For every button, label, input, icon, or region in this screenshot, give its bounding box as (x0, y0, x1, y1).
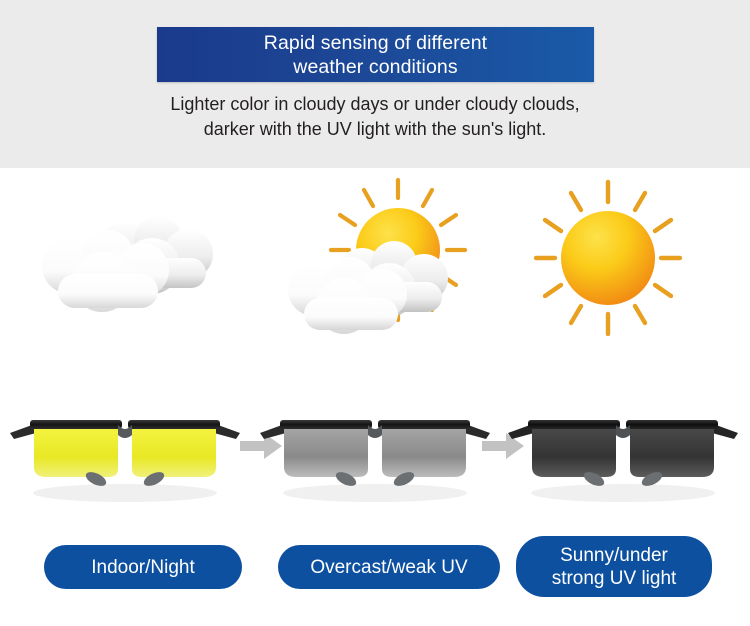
condition-label-text: Overcast/weak UV (310, 556, 467, 579)
subtitle-line-1: Lighter color in cloudy days or under cl… (0, 92, 750, 117)
sun-behind-cloud-icon (280, 168, 480, 373)
condition-label-line-1: Indoor/Night (91, 556, 195, 579)
dark-tint-glasses-icon (498, 373, 748, 523)
condition-label-line-1: Sunny/under (552, 544, 677, 567)
yellow-tint-glasses-icon (0, 373, 250, 523)
page-title: Rapid sensing of different weather condi… (264, 31, 487, 79)
condition-label-sunny-strong-uv: Sunny/under strong UV light (516, 536, 712, 597)
weather-stage-sun-behind-cloud (280, 168, 480, 373)
header-section: Rapid sensing of different weather condi… (0, 0, 750, 168)
page-title-line-1: Rapid sensing of different (264, 31, 487, 55)
glasses-row (0, 373, 750, 523)
condition-label-text: Sunny/under strong UV light (552, 544, 677, 590)
weather-stages-row (0, 168, 750, 373)
dark-tint-glasses (498, 373, 748, 523)
condition-label-overcast-weak-uv: Overcast/weak UV (278, 545, 500, 589)
condition-label-indoor-night: Indoor/Night (44, 545, 242, 589)
condition-label-line-2: strong UV light (552, 567, 677, 590)
clouds-icon (18, 168, 233, 373)
title-banner: Rapid sensing of different weather condi… (157, 27, 594, 82)
yellow-tint-glasses (0, 373, 250, 523)
weather-stage-clouds (18, 168, 233, 373)
condition-labels-row: Indoor/Night Overcast/weak UV Sunny/unde… (0, 524, 750, 626)
subtitle: Lighter color in cloudy days or under cl… (0, 92, 750, 142)
subtitle-line-2: darker with the UV light with the sun's … (0, 117, 750, 142)
weather-stage-sun (528, 168, 688, 373)
gray-tint-glasses (250, 373, 500, 523)
page-title-line-2: weather conditions (264, 55, 487, 79)
condition-label-line-1: Overcast/weak UV (310, 556, 467, 579)
sun-icon (528, 168, 688, 373)
sun-disc (561, 211, 655, 305)
gray-tint-glasses-icon (250, 373, 500, 523)
condition-label-text: Indoor/Night (91, 556, 195, 579)
